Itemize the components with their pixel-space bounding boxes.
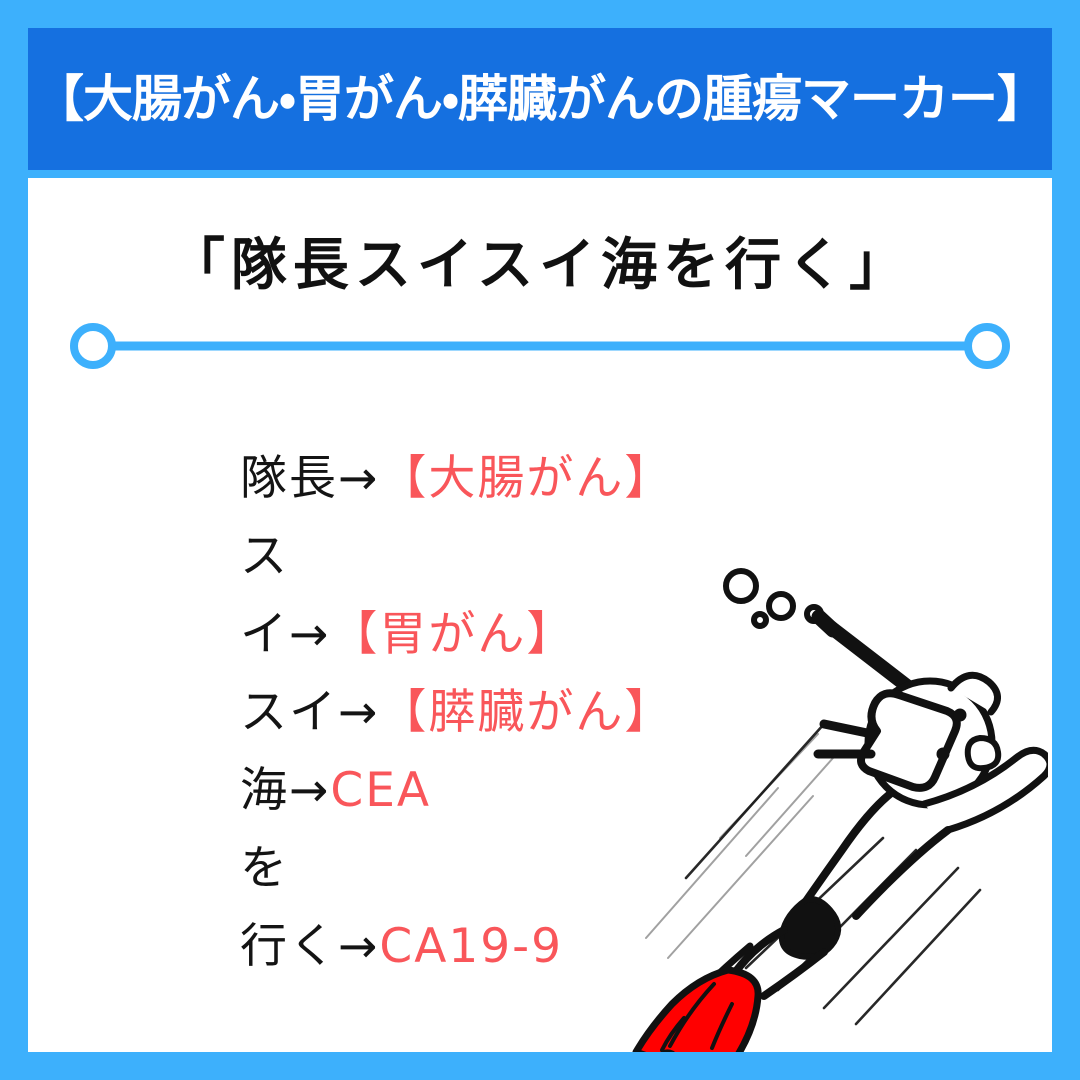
arrow-icon: → [338, 919, 379, 974]
red-flipper-icon [636, 970, 758, 1052]
snorkel-diver-illustration [628, 538, 1048, 1052]
header-band: 【大腸がん・胃がん・膵臓がんの腫瘍マーカー】 [28, 28, 1052, 170]
mnemonic-keyword: 【大腸がん】 [379, 451, 673, 506]
arrow-icon: → [338, 451, 379, 506]
swim-trunks-icon [782, 899, 838, 957]
header-title: 【大腸がん・胃がん・膵臓がんの腫瘍マーカー】 [34, 74, 1046, 124]
mnemonic-prefix: 行く [240, 919, 338, 974]
arrow-icon: → [289, 607, 330, 662]
mouthpiece-icon [968, 738, 998, 768]
diver-torso-icon [804, 794, 890, 904]
mask-strap-icon [824, 724, 872, 734]
list-item: 隊長→【大腸がん】 [240, 440, 860, 518]
content-panel: 「隊長スイスイ海を行く」 隊長→【大腸がん】 ス イ→【胃がん】 スイ→【膵臓が… [28, 178, 1052, 1052]
mnemonic-prefix: を [240, 841, 289, 896]
mnemonic-prefix: 隊長 [240, 451, 338, 506]
page-title: 「隊長スイスイ海を行く」 [28, 238, 1052, 294]
mnemonic-keyword: 【胃がん】 [330, 607, 575, 662]
mnemonic-prefix: 海 [240, 763, 289, 818]
diver-torso-icon [856, 830, 948, 916]
mnemonic-prefix: スイ [240, 685, 338, 740]
mnemonic-keyword: CA19-9 [379, 919, 563, 974]
mnemonic-prefix: イ [240, 607, 289, 662]
divider [38, 323, 1042, 369]
divider-right-dot-icon [968, 327, 1006, 365]
bubbles-icon [726, 571, 821, 626]
mnemonic-keyword: CEA [330, 763, 431, 818]
arrow-icon: → [338, 685, 379, 740]
arrow-icon: → [289, 763, 330, 818]
mnemonic-prefix: ス [240, 529, 289, 584]
diver-leg-icon [764, 952, 824, 996]
divider-left-dot-icon [74, 327, 112, 365]
infographic-card: 【大腸がん・胃がん・膵臓がんの腫瘍マーカー】 「隊長スイスイ海を行く」 隊長→【… [0, 0, 1080, 1080]
